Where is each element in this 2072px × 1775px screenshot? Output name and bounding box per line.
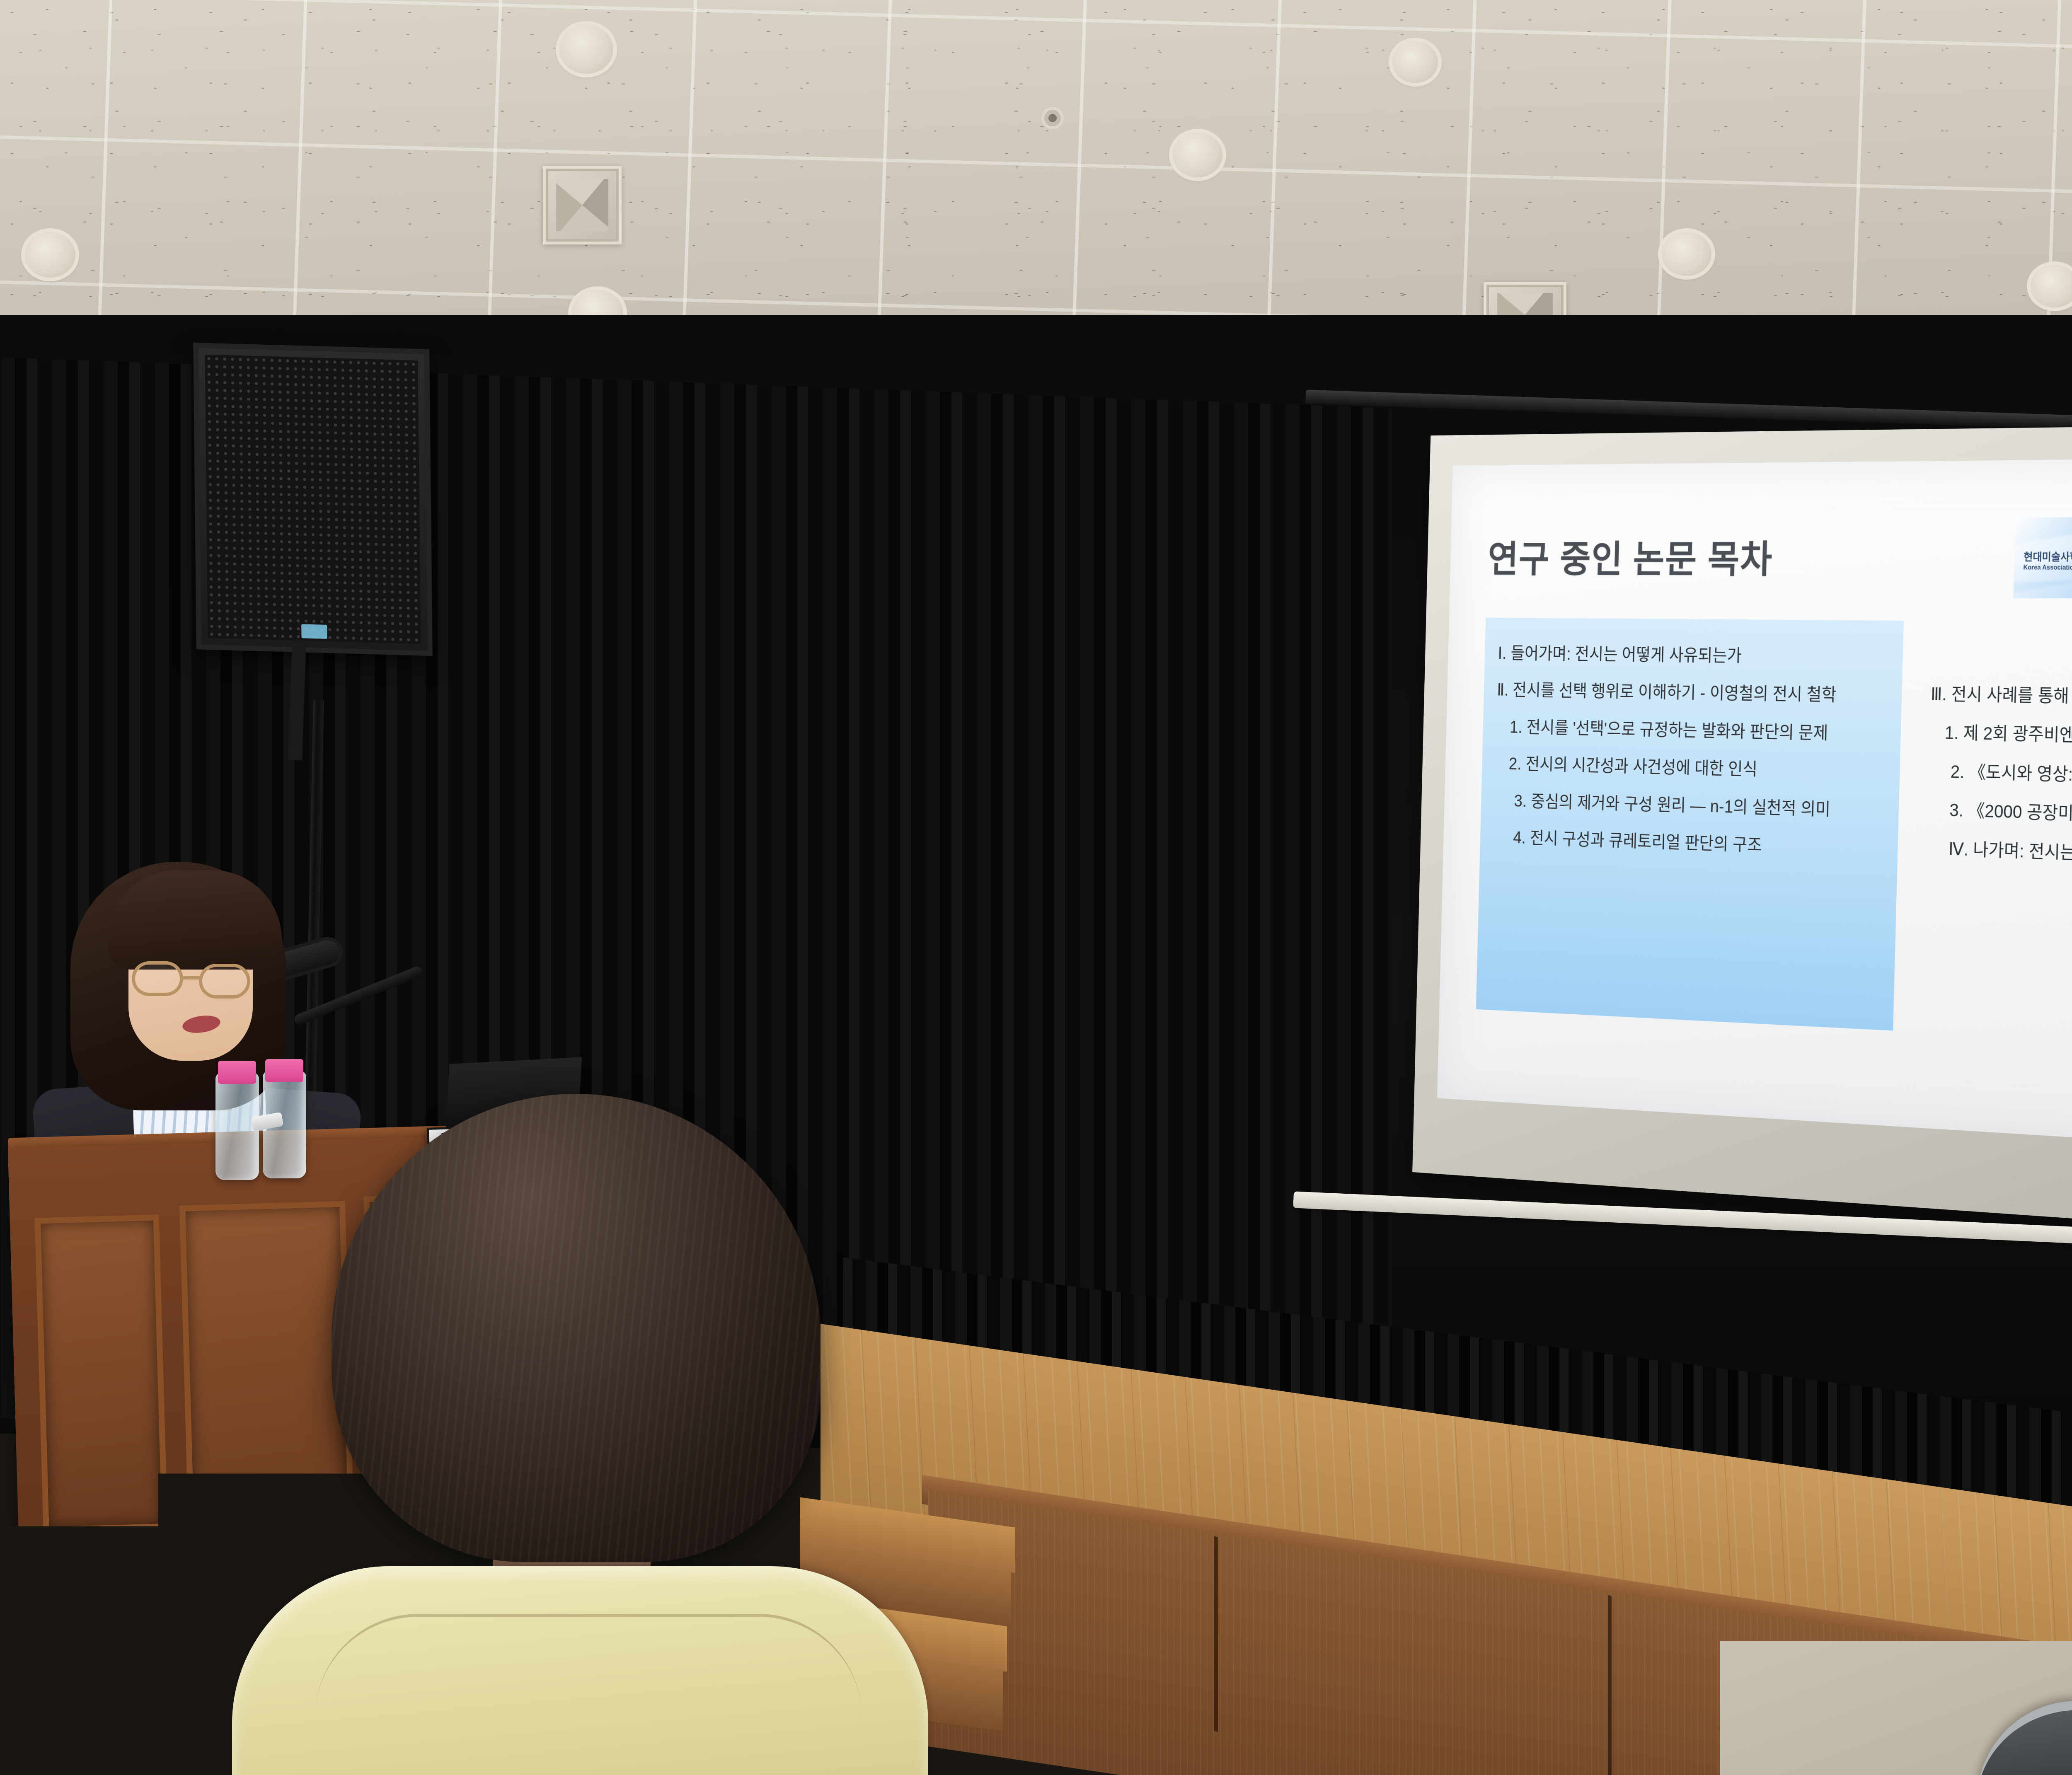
water-bottle-cap[interactable] <box>218 1061 256 1084</box>
logo-english-name: Korea Association for History of Modern … <box>2023 564 2072 572</box>
pa-speaker-icon <box>193 343 433 656</box>
toc-item: Ⅳ. 나가며: 전시는 어떻게 남는가 <box>1927 839 2072 870</box>
presentation-room-photo: 연구 중인 논문 목차 현대미술사학회 Korea Association fo… <box>0 0 2072 1775</box>
projection-screen: 연구 중인 논문 목차 현대미술사학회 Korea Association fo… <box>1412 424 2072 1232</box>
toc-item: 3. 중심의 제거와 구성 원리 — n-1의 실천적 의미 <box>1494 791 1895 821</box>
toc-item: 1. 제 2회 광주비엔날레《지구의 여백》(1997) <box>1929 723 2072 750</box>
eyeglasses-icon <box>199 964 250 999</box>
sprinkler-icon <box>1044 110 1061 126</box>
toc-item: 2. 《도시와 영상: 의식주》(1998) <box>1928 762 2072 790</box>
slide-title: 연구 중인 논문 목차 <box>1487 529 1774 583</box>
ceiling-downlight-icon <box>559 25 613 74</box>
toc-column-right: Ⅲ. 전시 사례를 통해 본 전시 구성의 실천 1. 제 2회 광주비엔날레《… <box>1927 685 2072 870</box>
ceiling-downlight-icon <box>25 232 75 278</box>
eyeglasses-bridge <box>182 976 201 979</box>
stage-panel-seam <box>1608 1595 1612 1775</box>
audience-hair <box>332 1094 821 1562</box>
stage-panel-seam <box>1214 1536 1218 1732</box>
ceiling-downlight-icon <box>1392 41 1438 83</box>
presenter-fringe <box>108 870 282 970</box>
toc-item: 3. 《2000 공장미술제》(1999) <box>1927 800 2072 830</box>
speaker-brand-badge <box>301 624 327 639</box>
podium-panel <box>35 1214 168 1533</box>
toc-item: 2. 전시의 시간성과 사건성에 대한 인식 <box>1495 754 1895 783</box>
logo-korean-name: 현대미술사학회 <box>2024 549 2072 564</box>
ceiling-downlight-icon <box>1173 133 1222 177</box>
audience-collar-seam <box>315 1614 862 1717</box>
eyeglasses-icon <box>132 961 183 996</box>
ceiling-downlight-icon <box>1662 232 1711 276</box>
foreground-audience-member <box>298 1094 879 1775</box>
water-bottle-cap[interactable] <box>265 1059 303 1082</box>
toc-item: Ⅱ. 전시를 선택 행위로 이해하기 - 이영철의 전시 철학 <box>1497 681 1898 706</box>
speaker-grille <box>205 355 421 644</box>
air-vent-icon <box>543 166 622 244</box>
presentation-slide: 연구 중인 논문 목차 현대미술사학회 Korea Association fo… <box>1437 458 2072 1148</box>
toc-item: 1. 전시를 '선택'으로 규정하는 발화와 판단의 문제 <box>1496 718 1897 745</box>
association-logo: 현대미술사학회 Korea Association for History of… <box>2013 517 2072 599</box>
toc-item: Ⅲ. 전시 사례를 통해 본 전시 구성의 실천 <box>1930 685 2072 710</box>
toc-item: Ⅰ. 들어가며: 전시는 어떻게 사유되는가 <box>1498 644 1898 668</box>
toc-column-left: Ⅰ. 들어가며: 전시는 어떻게 사유되는가 Ⅱ. 전시를 선택 행위로 이해하… <box>1493 644 1898 860</box>
